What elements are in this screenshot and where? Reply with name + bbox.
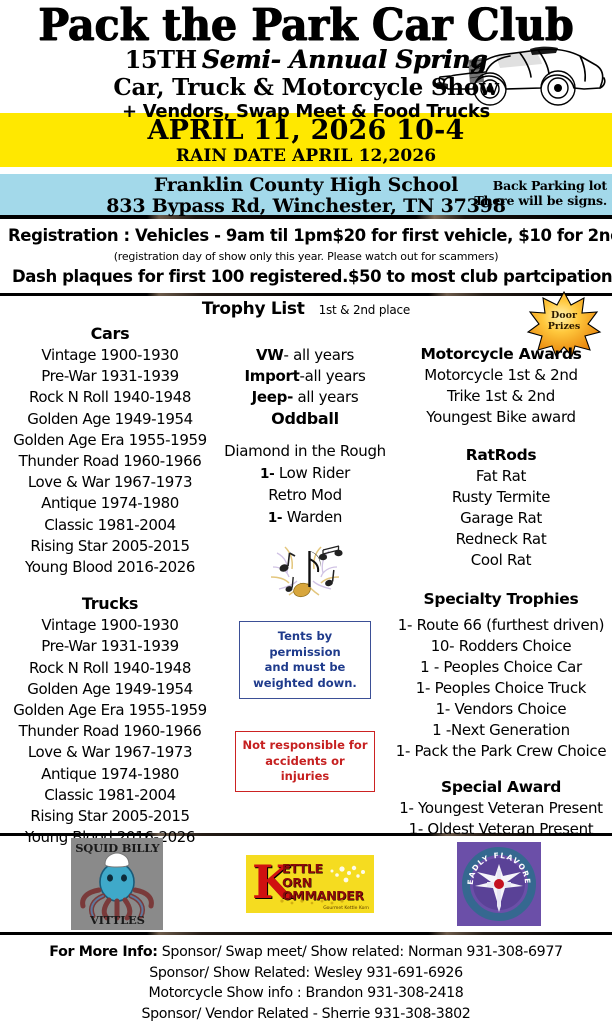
item-label: Warden (282, 508, 342, 526)
list-item: Rock N Roll 1940-1948 (0, 387, 220, 408)
list-item: Trike 1st & 2nd (390, 386, 612, 407)
list-item: Cool Rat (390, 550, 612, 571)
winged-cross-icon: DEADLY FLAVORED (457, 842, 541, 926)
item-count: 1- (268, 510, 282, 526)
list-item: Classic 1981-2004 (0, 785, 220, 806)
contact-footer: For More Info: Sponsor/ Swap meet/ Show … (0, 935, 612, 1024)
squid-billy-bottom-text: VITTLES (71, 913, 163, 927)
rain-date: RAIN DATE APRIL 12,2026 (0, 146, 612, 166)
column-left: Cars Vintage 1900-1930 Pre-War 1931-1939… (0, 323, 220, 833)
registration-hours: Registration : Vehicles - 9am til 1pm (8, 224, 332, 248)
list-item: Love & War 1967-1973 (0, 472, 220, 493)
trophy-header-inner: Trophy List 1st & 2nd place (0, 299, 612, 319)
item-label: Diamond in the Rough (224, 442, 386, 460)
item-label: Low Rider (274, 464, 350, 482)
list-item: Golden Age 1949-1954 (0, 409, 220, 430)
list-item: 10- Rodders Choice (390, 636, 612, 657)
liability-notice: Not responsible for accidents or injurie… (235, 731, 375, 792)
list-item: 1- Pack the Park Crew Choice (390, 741, 612, 762)
more-info-label: For More Info: (49, 944, 157, 960)
list-item: Antique 1974-1980 (0, 493, 220, 514)
trophy-list-header: Trophy List 1st & 2nd place Door Prizes (0, 296, 612, 323)
list-item: 1- Vendors Choice (390, 699, 612, 720)
trophy-list-title: Trophy List (202, 299, 305, 319)
class-years: -all years (300, 367, 366, 385)
dash-plaques-note: Dash plaques for first 100 registered. (12, 265, 348, 289)
hot-rod-car-icon (434, 36, 608, 110)
list-item: Import-all years (220, 366, 390, 387)
list-item: Fat Rat (390, 466, 612, 487)
kettle-korn-image: K ETTLE ORN OMMANDER (246, 855, 374, 913)
list-item: Thunder Road 1960-1966 (0, 721, 220, 742)
vehicle-class-list: VW- all years Import-all years Jeep- all… (220, 345, 390, 429)
ratrods-list: Fat Rat Rusty Termite Garage Rat Redneck… (390, 466, 612, 571)
liability-notice-line1: Not responsible for (240, 738, 370, 754)
tents-notice: Tents by permission and must be weighted… (239, 621, 371, 699)
sponsor-logo-squid-billy: SQUID BILLY (71, 838, 163, 930)
parking-note-line2: There will be signs. (474, 193, 607, 208)
liability-notice-line2: accidents or injuries (240, 754, 370, 785)
contact-brandon: Motorcycle Show info : Brandon 931-308-2… (0, 983, 612, 1004)
list-item: Retro Mod (220, 485, 390, 507)
trophy-list-subtitle: 1st & 2nd place (319, 303, 411, 317)
list-item: VW- all years (220, 345, 390, 366)
squid-billy-top-text: SQUID BILLY (71, 841, 163, 855)
list-item: Diamond in the Rough (220, 441, 390, 463)
oddball-list: Diamond in the Rough 1- Low Rider Retro … (220, 441, 390, 529)
column-middle: VW- all years Import-all years Jeep- all… (220, 323, 390, 833)
list-item: Antique 1974-1980 (0, 764, 220, 785)
list-item: Redneck Rat (390, 529, 612, 550)
specialty-trophies-heading: Specialty Trophies (390, 588, 612, 610)
list-item: 1- Low Rider (220, 463, 390, 485)
list-item: Garage Rat (390, 508, 612, 529)
squid-billy-image: SQUID BILLY (71, 838, 163, 930)
ratrods-heading: RatRods (390, 444, 612, 466)
cars-list: Vintage 1900-1930 Pre-War 1931-1939 Rock… (0, 345, 220, 578)
list-item: 1- Route 66 (furthest driven) (390, 615, 612, 636)
list-item: 1- Peoples Choice Truck (390, 678, 612, 699)
list-item: 1 -Next Generation (390, 720, 612, 741)
list-item: Jeep- all years (220, 387, 390, 408)
venue-banner: Franklin County High School 833 Bypass R… (0, 174, 612, 215)
list-item: Golden Age Era 1955-1959 (0, 430, 220, 451)
music-notes-icon (259, 537, 351, 607)
trucks-list: Vintage 1900-1930 Pre-War 1931-1939 Rock… (0, 615, 220, 848)
cars-heading: Cars (0, 323, 220, 345)
special-award-heading: Special Award (390, 776, 612, 798)
tents-notice-line2: and must be (244, 660, 366, 676)
list-item: Rising Star 2005-2015 (0, 536, 220, 557)
list-item: Golden Age Era 1955-1959 (0, 700, 220, 721)
registration-section: Registration : Vehicles - 9am til 1pm $2… (0, 219, 612, 293)
class-label: Import (244, 367, 299, 385)
specialty-trophies-list: 1- Route 66 (furthest driven) 10- Rodder… (390, 615, 612, 762)
list-item: 1- Warden (220, 507, 390, 529)
flyer-page: Pack the Park Car Club 15TH Semi- Annual… (0, 0, 612, 1024)
kettle-korn-tagline: Gourmet Kettle Korn (323, 906, 369, 911)
list-item: Motorcycle 1st & 2nd (390, 365, 612, 386)
registration-row-1: Registration : Vehicles - 9am til 1pm $2… (8, 224, 604, 248)
list-item: 1- Oldest Veteran Present (390, 819, 612, 840)
item-label: Retro Mod (268, 486, 342, 504)
list-item: Love & War 1967-1973 (0, 742, 220, 763)
special-award-list: 1- Youngest Veteran Present 1- Oldest Ve… (390, 798, 612, 840)
list-item: Youngest Bike award (390, 407, 612, 428)
class-years: - all years (284, 346, 354, 364)
deadly-flavored-image: DEADLY FLAVORED (457, 842, 541, 926)
list-item: Vintage 1900-1930 (0, 345, 220, 366)
sponsor-logo-kettle-korn: K ETTLE ORN OMMANDER (246, 855, 374, 913)
class-years: all years (293, 388, 358, 406)
trophy-columns: Cars Vintage 1900-1930 Pre-War 1931-1939… (0, 323, 612, 833)
registration-fees: $20 for first vehicle, $10 for 2nd (332, 224, 612, 248)
contact-wesley: Sponsor/ Show Related: Wesley 931-691-69… (0, 963, 612, 984)
sponsor-logo-deadly-flavored: DEADLY FLAVORED (457, 842, 541, 926)
list-item: Oddball (220, 408, 390, 429)
item-count: 1- (260, 466, 274, 482)
contact-sherrie: Sponsor/ Vendor Related - Sherrie 931-30… (0, 1004, 612, 1024)
banner-spacer (0, 167, 612, 174)
club-participation-prize: $50 to most club partcipation (348, 265, 612, 289)
popcorn-kernels-icon (246, 855, 374, 913)
list-item: Thunder Road 1960-1966 (0, 451, 220, 472)
list-item: Young Blood 2016-2026 (0, 557, 220, 578)
column-right: Motorcycle Awards Motorcycle 1st & 2nd T… (390, 323, 612, 833)
motorcycle-awards-list: Motorcycle 1st & 2nd Trike 1st & 2nd You… (390, 365, 612, 428)
parking-note: Back Parking lot There will be signs. (474, 178, 607, 208)
tents-notice-line1: Tents by permission (244, 629, 366, 660)
trucks-heading: Trucks (0, 593, 220, 615)
list-item: Rusty Termite (390, 487, 612, 508)
flyer-header: Pack the Park Car Club 15TH Semi- Annual… (0, 0, 612, 113)
registration-note: (registration day of show only this year… (8, 248, 604, 265)
list-item: Vintage 1900-1930 (0, 615, 220, 636)
class-label: VW (256, 346, 284, 364)
list-item: Classic 1981-2004 (0, 515, 220, 536)
sponsors-section: SQUID BILLY (0, 836, 612, 932)
list-item: 1- Youngest Veteran Present (390, 798, 612, 819)
list-item: Pre-War 1931-1939 (0, 366, 220, 387)
parking-note-line1: Back Parking lot (474, 178, 607, 193)
tents-notice-line3: weighted down. (244, 676, 366, 692)
list-item: Rock N Roll 1940-1948 (0, 658, 220, 679)
list-item: Golden Age 1949-1954 (0, 679, 220, 700)
contact-line-1: For More Info: Sponsor/ Swap meet/ Show … (0, 942, 612, 963)
contact-norman: Sponsor/ Swap meet/ Show related: Norman… (158, 944, 563, 960)
list-item: Rising Star 2005-2015 (0, 806, 220, 827)
list-item: Pre-War 1931-1939 (0, 636, 220, 657)
class-label: Jeep- (252, 388, 293, 406)
registration-row-2: Dash plaques for first 100 registered. $… (8, 265, 604, 289)
motorcycle-awards-heading: Motorcycle Awards (390, 343, 612, 365)
list-item: 1 - Peoples Choice Car (390, 657, 612, 678)
